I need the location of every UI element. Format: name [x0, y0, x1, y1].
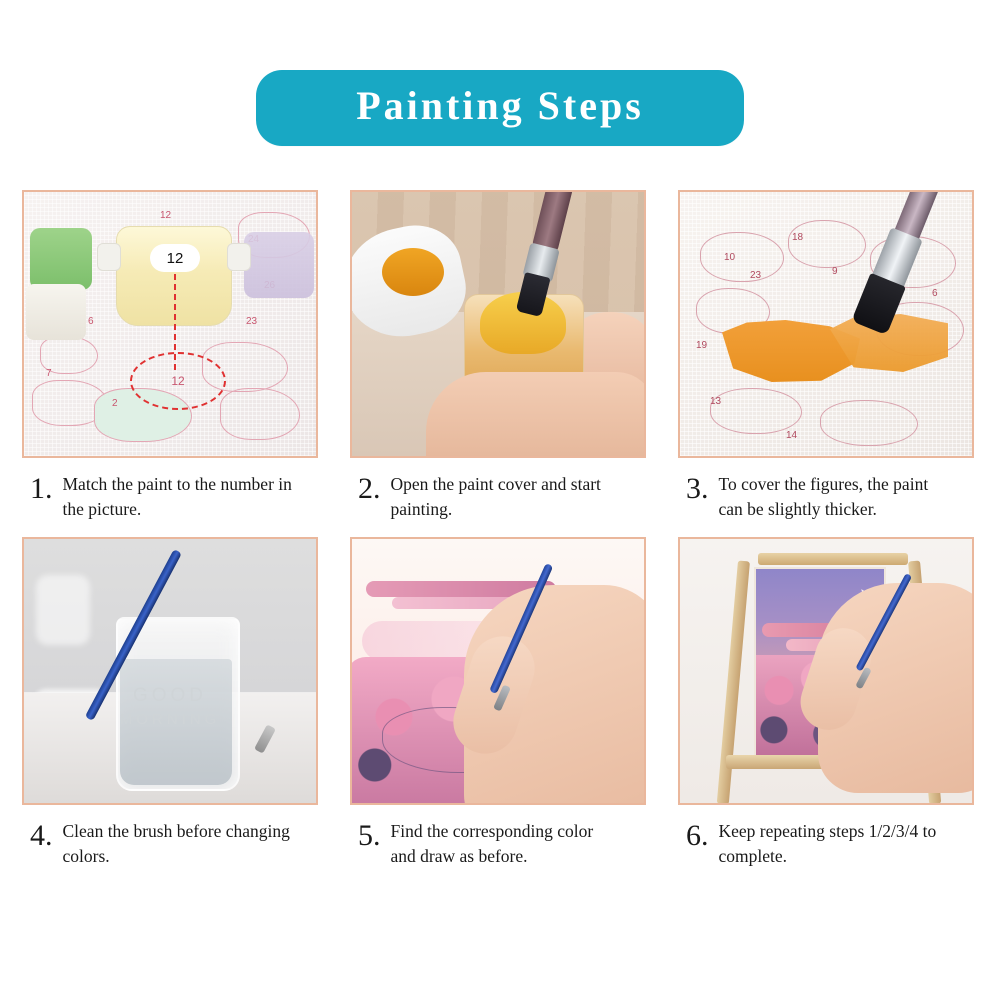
glass-text-line-1: GOOD — [24, 685, 316, 707]
step-3-text: To cover the figures, the paint can be s… — [719, 472, 951, 523]
step-5-text: Find the corresponding color and draw as… — [391, 819, 623, 870]
step-1-photo: 12 24 23 6 7 2 26 12 12 — [22, 190, 318, 458]
brush-bristles — [516, 272, 551, 317]
white-paint-jar — [26, 284, 86, 340]
pot-lid-right — [227, 243, 251, 271]
step-6-caption: 6. Keep repeating steps 1/2/3/4 to compl… — [678, 819, 978, 870]
canvas-shape — [788, 220, 866, 268]
paint-pot-number-label: 12 — [150, 244, 200, 272]
step-card-1: 12 24 23 6 7 2 26 12 12 — [22, 190, 322, 523]
background-object — [36, 575, 90, 645]
header-banner: Painting Steps — [256, 70, 744, 146]
canvas-number: 23 — [246, 316, 257, 327]
step-1-number: 1. — [30, 474, 53, 504]
step-5-caption: 5. Find the corresponding color and draw… — [350, 819, 650, 870]
canvas-number: 19 — [696, 340, 707, 351]
step-card-2: 2. Open the paint cover and start painti… — [350, 190, 650, 523]
steps-grid: 12 24 23 6 7 2 26 12 12 — [22, 190, 978, 870]
canvas-number: 12 — [160, 210, 171, 221]
green-paint-jar — [30, 228, 92, 290]
step-2-photo — [350, 190, 646, 458]
canvas-number: 9 — [832, 266, 838, 277]
paint-brush — [866, 573, 956, 703]
step-3-number: 3. — [686, 474, 709, 504]
step-6-text: Keep repeating steps 1/2/3/4 to complete… — [719, 819, 951, 870]
canvas-matching-number: 12 — [171, 374, 184, 388]
step-3-caption: 3. To cover the figures, the paint can b… — [678, 472, 978, 523]
pot-lid-left — [97, 243, 121, 271]
step-1-text: Match the paint to the number in the pic… — [63, 472, 295, 523]
step-card-6: 6. Keep repeating steps 1/2/3/4 to compl… — [678, 537, 978, 870]
step-4-photo: GOOD MORNING — [22, 537, 318, 805]
lilac-paint-jar — [244, 232, 314, 298]
canvas-number: 6 — [932, 288, 938, 299]
step-card-3: 18 10 23 9 8 6 20 13 14 19 3. — [678, 190, 978, 523]
paint-brush — [500, 563, 610, 743]
step-card-4: GOOD MORNING 4. Clean the brush before c… — [22, 537, 322, 870]
canvas-number: 6 — [88, 316, 94, 327]
canvas-shape — [700, 232, 784, 282]
step-3-photo: 18 10 23 9 8 6 20 13 14 19 — [678, 190, 974, 458]
step-2-number: 2. — [358, 474, 381, 504]
paint-residue-on-lid — [382, 248, 444, 296]
header-banner-wrapper: Painting Steps — [0, 70, 1000, 146]
canvas-number: 10 — [724, 252, 735, 263]
step-4-caption: 4. Clean the brush before changing color… — [22, 819, 322, 870]
glass-text-line-2: MORNING — [24, 711, 316, 728]
canvas-number: 13 — [710, 396, 721, 407]
step-5-number: 5. — [358, 821, 381, 851]
painting-steps-infographic: Painting Steps 12 24 23 6 7 2 26 — [0, 0, 1000, 1000]
hand — [426, 372, 646, 458]
step-6-photo — [678, 537, 974, 805]
step-card-5: 5. Find the corresponding color and draw… — [350, 537, 650, 870]
canvas-number: 18 — [792, 232, 803, 243]
paint-brush — [174, 549, 266, 759]
canvas-shape — [710, 388, 802, 434]
step-2-caption: 2. Open the paint cover and start painti… — [350, 472, 650, 523]
canvas-number: 23 — [750, 270, 761, 281]
step-4-text: Clean the brush before changing colors. — [63, 819, 295, 870]
canvas-number: 14 — [786, 430, 797, 441]
highlight-circle: 12 — [130, 352, 226, 410]
step-2-text: Open the paint cover and start painting. — [391, 472, 623, 523]
step-1-caption: 1. Match the paint to the number in the … — [22, 472, 322, 523]
easel-top-bar — [758, 553, 908, 565]
step-6-number: 6. — [686, 821, 709, 851]
canvas-shape — [220, 388, 300, 440]
page-title: Painting Steps — [310, 84, 690, 128]
canvas-number: 2 — [112, 398, 118, 409]
canvas-number: 7 — [46, 368, 52, 379]
step-5-photo — [350, 537, 646, 805]
canvas-shape — [820, 400, 918, 446]
step-4-number: 4. — [30, 821, 53, 851]
